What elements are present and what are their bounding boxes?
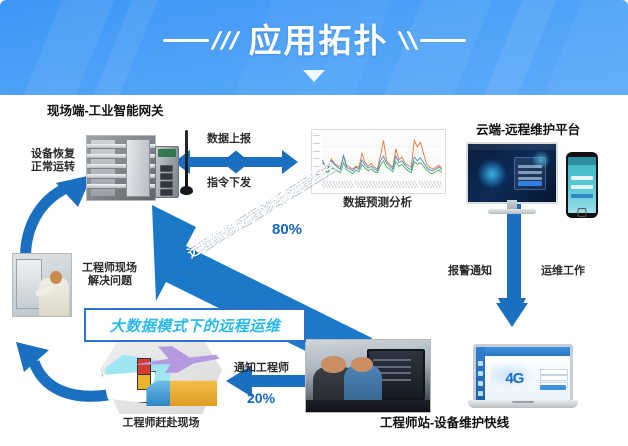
antenna-icon xyxy=(185,130,188,190)
chart-x-axis xyxy=(322,181,442,191)
arrow-data-bidirectional xyxy=(174,150,298,174)
field-gateway-title: 现场端-工业智能网关 xyxy=(47,104,164,119)
technician-at-panel-photo xyxy=(12,253,72,317)
plane-train-ship-illustration xyxy=(100,338,222,414)
laptop-screen: 4G xyxy=(473,344,573,406)
engineer-station-title: 工程师站-设备维护快线 xyxy=(380,416,509,431)
laptop-app-body: 4G xyxy=(485,356,570,403)
edge-label-command-dispatch: 指令下发 xyxy=(207,177,251,190)
engineer-onsite-caption: 工程师现场 解决问题 xyxy=(82,262,137,289)
monitor-base xyxy=(488,209,536,214)
arrow-ops-work xyxy=(496,196,528,327)
chart-caption: 数据预测分析 xyxy=(311,196,444,210)
big-data-banner: 大数据模式下的远程运维 xyxy=(84,308,306,342)
industrial-gateway-device xyxy=(155,146,179,198)
title-decor-right-icon xyxy=(398,27,466,53)
laptop-computer: 4G xyxy=(468,344,578,410)
page-title: 应用拓扑 xyxy=(249,24,389,57)
laptop-app-sidebar xyxy=(476,347,485,403)
engineer-travel-caption: 工程师赶赴现场 xyxy=(96,417,226,430)
edge-label-ops-work: 运维工作 xyxy=(541,265,585,278)
desktop-monitor xyxy=(466,142,558,214)
equipment-restored-label: 设备恢复 正常运转 xyxy=(20,148,86,175)
monitor-screen xyxy=(466,142,558,204)
industrial-cabinet-photo xyxy=(86,135,156,201)
edge-label-notify-engineer: 通知工程师 xyxy=(234,362,289,375)
triangle-down-icon xyxy=(303,70,325,82)
engineers-at-workstation-photo xyxy=(305,339,431,413)
phone-screen xyxy=(568,157,596,213)
phone-home-button xyxy=(578,208,587,217)
antenna-base-icon xyxy=(180,186,193,195)
onsite-percent: 20% xyxy=(247,390,275,406)
smartphone xyxy=(566,152,598,218)
remote-percent: 80% xyxy=(272,221,302,238)
title-row: 应用拓扑 xyxy=(0,16,628,64)
monitor-stand xyxy=(507,200,517,209)
application-topology-diagram: 应用拓扑 xyxy=(0,0,628,446)
monitor-login-panel xyxy=(514,157,546,190)
big-data-banner-text: 大数据模式下的远程运维 xyxy=(110,315,281,336)
four-g-label: 4G xyxy=(505,370,523,387)
laptop-app-topbar xyxy=(485,347,570,356)
arrow-engineer-arrives xyxy=(16,342,108,396)
cloud-platform-title: 云端-远程维护平台 xyxy=(476,123,580,138)
edge-label-data-upload: 数据上报 xyxy=(207,133,251,146)
edge-label-alarm-notice: 报警通知 xyxy=(448,265,492,278)
page-header-banner: 应用拓扑 xyxy=(0,0,628,95)
title-decor-left-icon xyxy=(163,27,240,53)
laptop-trackpad-notch xyxy=(512,401,534,403)
laptop-login-form xyxy=(540,366,566,390)
